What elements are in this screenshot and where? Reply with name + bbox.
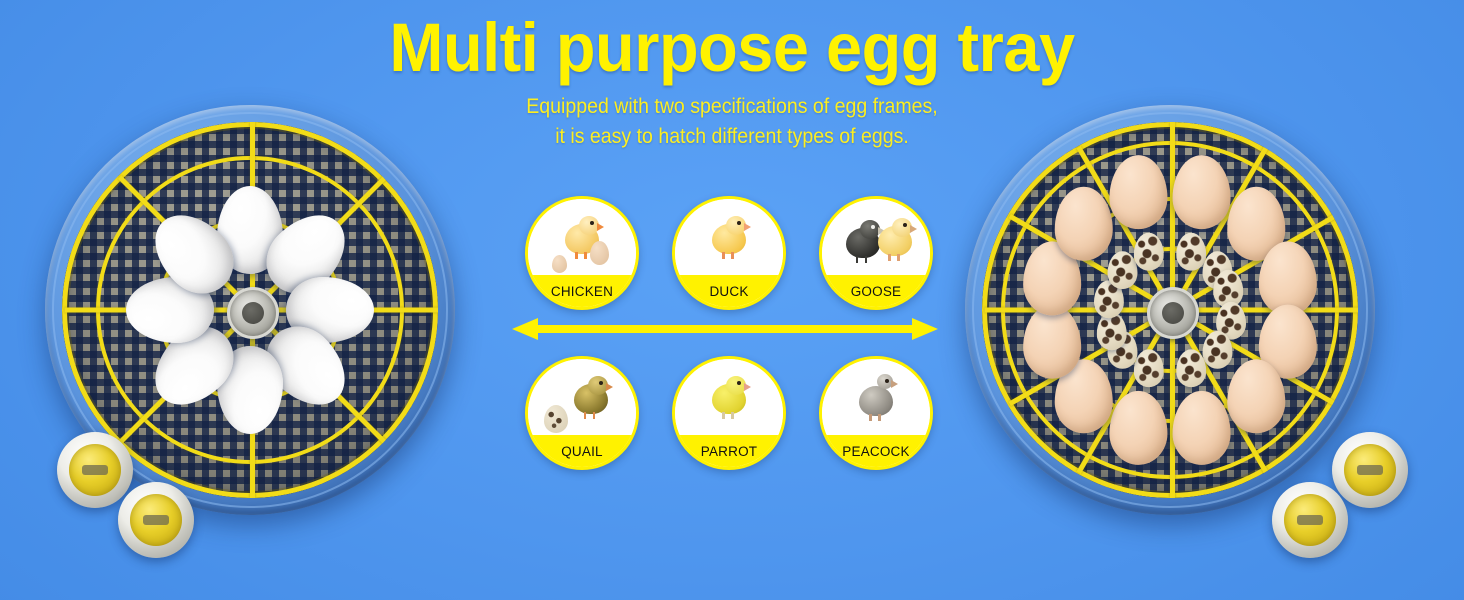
tray-egg-quail: [1176, 349, 1206, 387]
badge-chicken[interactable]: CHICKEN: [525, 196, 639, 310]
badge-label: DUCK: [675, 275, 783, 307]
badge-photo: [822, 359, 930, 435]
gosling-icon-yellow: [872, 218, 910, 256]
badge-peacock[interactable]: PEACOCK: [819, 356, 933, 470]
tray-knob-left-upper[interactable]: [57, 432, 133, 508]
badge-label: CHICKEN: [528, 275, 636, 307]
badge-label: PARROT: [675, 435, 783, 467]
badge-duck[interactable]: DUCK: [672, 196, 786, 310]
parrot-chick-icon: [706, 376, 752, 418]
quail-egg-prop: [544, 405, 568, 433]
duckling-icon: [706, 216, 752, 258]
tray-egg-quail: [1134, 349, 1164, 387]
badge-label: GOOSE: [822, 275, 930, 307]
tray-spoke: [1173, 308, 1359, 313]
tray-egg-quail: [1134, 233, 1164, 271]
badge-goose[interactable]: GOOSE: [819, 196, 933, 310]
badge-parrot[interactable]: PARROT: [672, 356, 786, 470]
tray-spoke: [1170, 122, 1175, 310]
badge-photo: [528, 359, 636, 435]
tray-knob-right-lower[interactable]: [1272, 482, 1348, 558]
quail-chick-icon: [568, 376, 614, 418]
peachick-icon: [853, 378, 899, 420]
badge-photo: [675, 199, 783, 275]
eggshell-prop: [590, 241, 609, 265]
double-headed-arrow: [512, 318, 938, 340]
tray-egg-quail: [1202, 331, 1232, 369]
tray-knob-left-lower[interactable]: [118, 482, 194, 558]
tray-egg-quail: [1176, 233, 1206, 271]
tray-mesh-right: [982, 122, 1358, 498]
badge-photo: [528, 199, 636, 275]
badge-label: PEACOCK: [822, 435, 930, 467]
tray-center-hub[interactable]: [1147, 287, 1199, 339]
multi-size-egg-tray[interactable]: [965, 105, 1375, 515]
badge-photo: [822, 199, 930, 275]
badge-photo: [675, 359, 783, 435]
badge-label: QUAIL: [528, 435, 636, 467]
tray-center-hub[interactable]: [227, 287, 279, 339]
badge-quail[interactable]: QUAIL: [525, 356, 639, 470]
eggshell-prop: [552, 255, 567, 273]
page-title: Multi purpose egg tray: [44, 8, 1420, 87]
tray-knob-right-upper[interactable]: [1332, 432, 1408, 508]
tray-spoke: [985, 308, 1173, 313]
product-banner: Multi purpose egg tray Equipped with two…: [0, 0, 1464, 600]
